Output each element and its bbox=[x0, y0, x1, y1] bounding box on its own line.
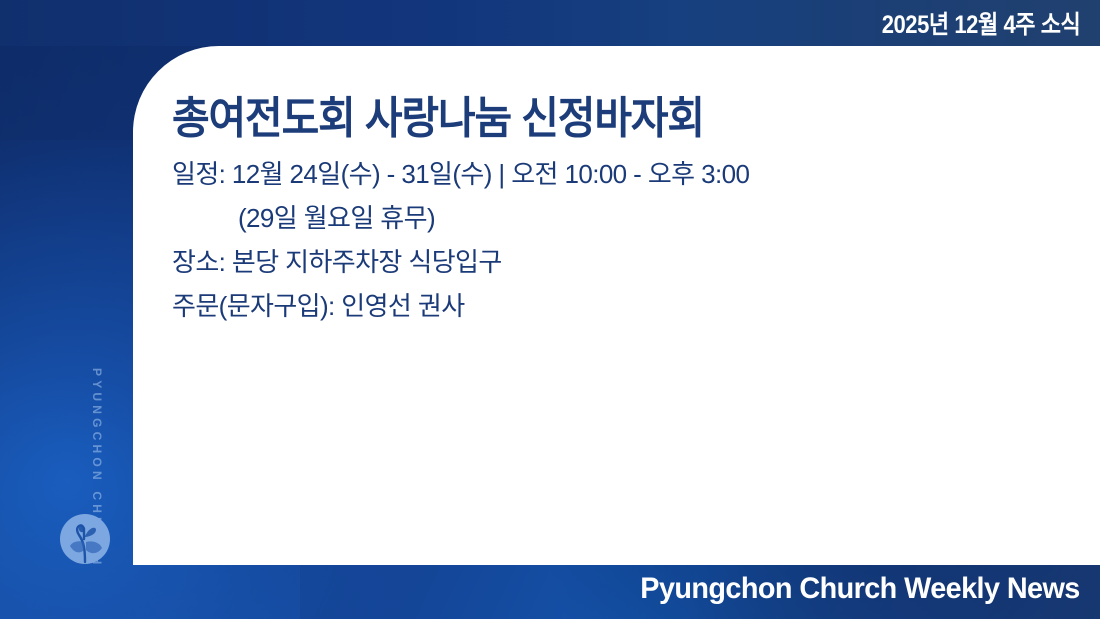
header-date-label: 2025년 12월 4주 소식 bbox=[882, 5, 1100, 41]
slide-canvas: 2025년 12월 4주 소식 총여전도회 사랑나눔 신정바자회 일정: 12월… bbox=[0, 0, 1100, 619]
content-card: 총여전도회 사랑나눔 신정바자회 일정: 12월 24일(수) - 31일(수)… bbox=[133, 46, 1100, 565]
body-line-order-contact: 주문(문자구입): 인영선 권사 bbox=[172, 284, 1070, 328]
header-bar: 2025년 12월 4주 소식 bbox=[0, 0, 1100, 46]
body-text-block: 일정: 12월 24일(수) - 31일(수) | 오전 10:00 - 오후 … bbox=[172, 152, 1070, 328]
body-line-schedule: 일정: 12월 24일(수) - 31일(수) | 오전 10:00 - 오후 … bbox=[172, 152, 1070, 196]
church-flower-logo-icon bbox=[58, 512, 112, 566]
body-line-location: 장소: 본당 지하주차장 식당입구 bbox=[172, 240, 1070, 284]
page-title: 총여전도회 사랑나눔 신정바자회 bbox=[172, 82, 704, 146]
body-line-closure-note: (29일 월요일 휴무) bbox=[172, 196, 1070, 240]
footer-brand-label: Pyungchon Church Weekly News bbox=[641, 572, 1080, 606]
